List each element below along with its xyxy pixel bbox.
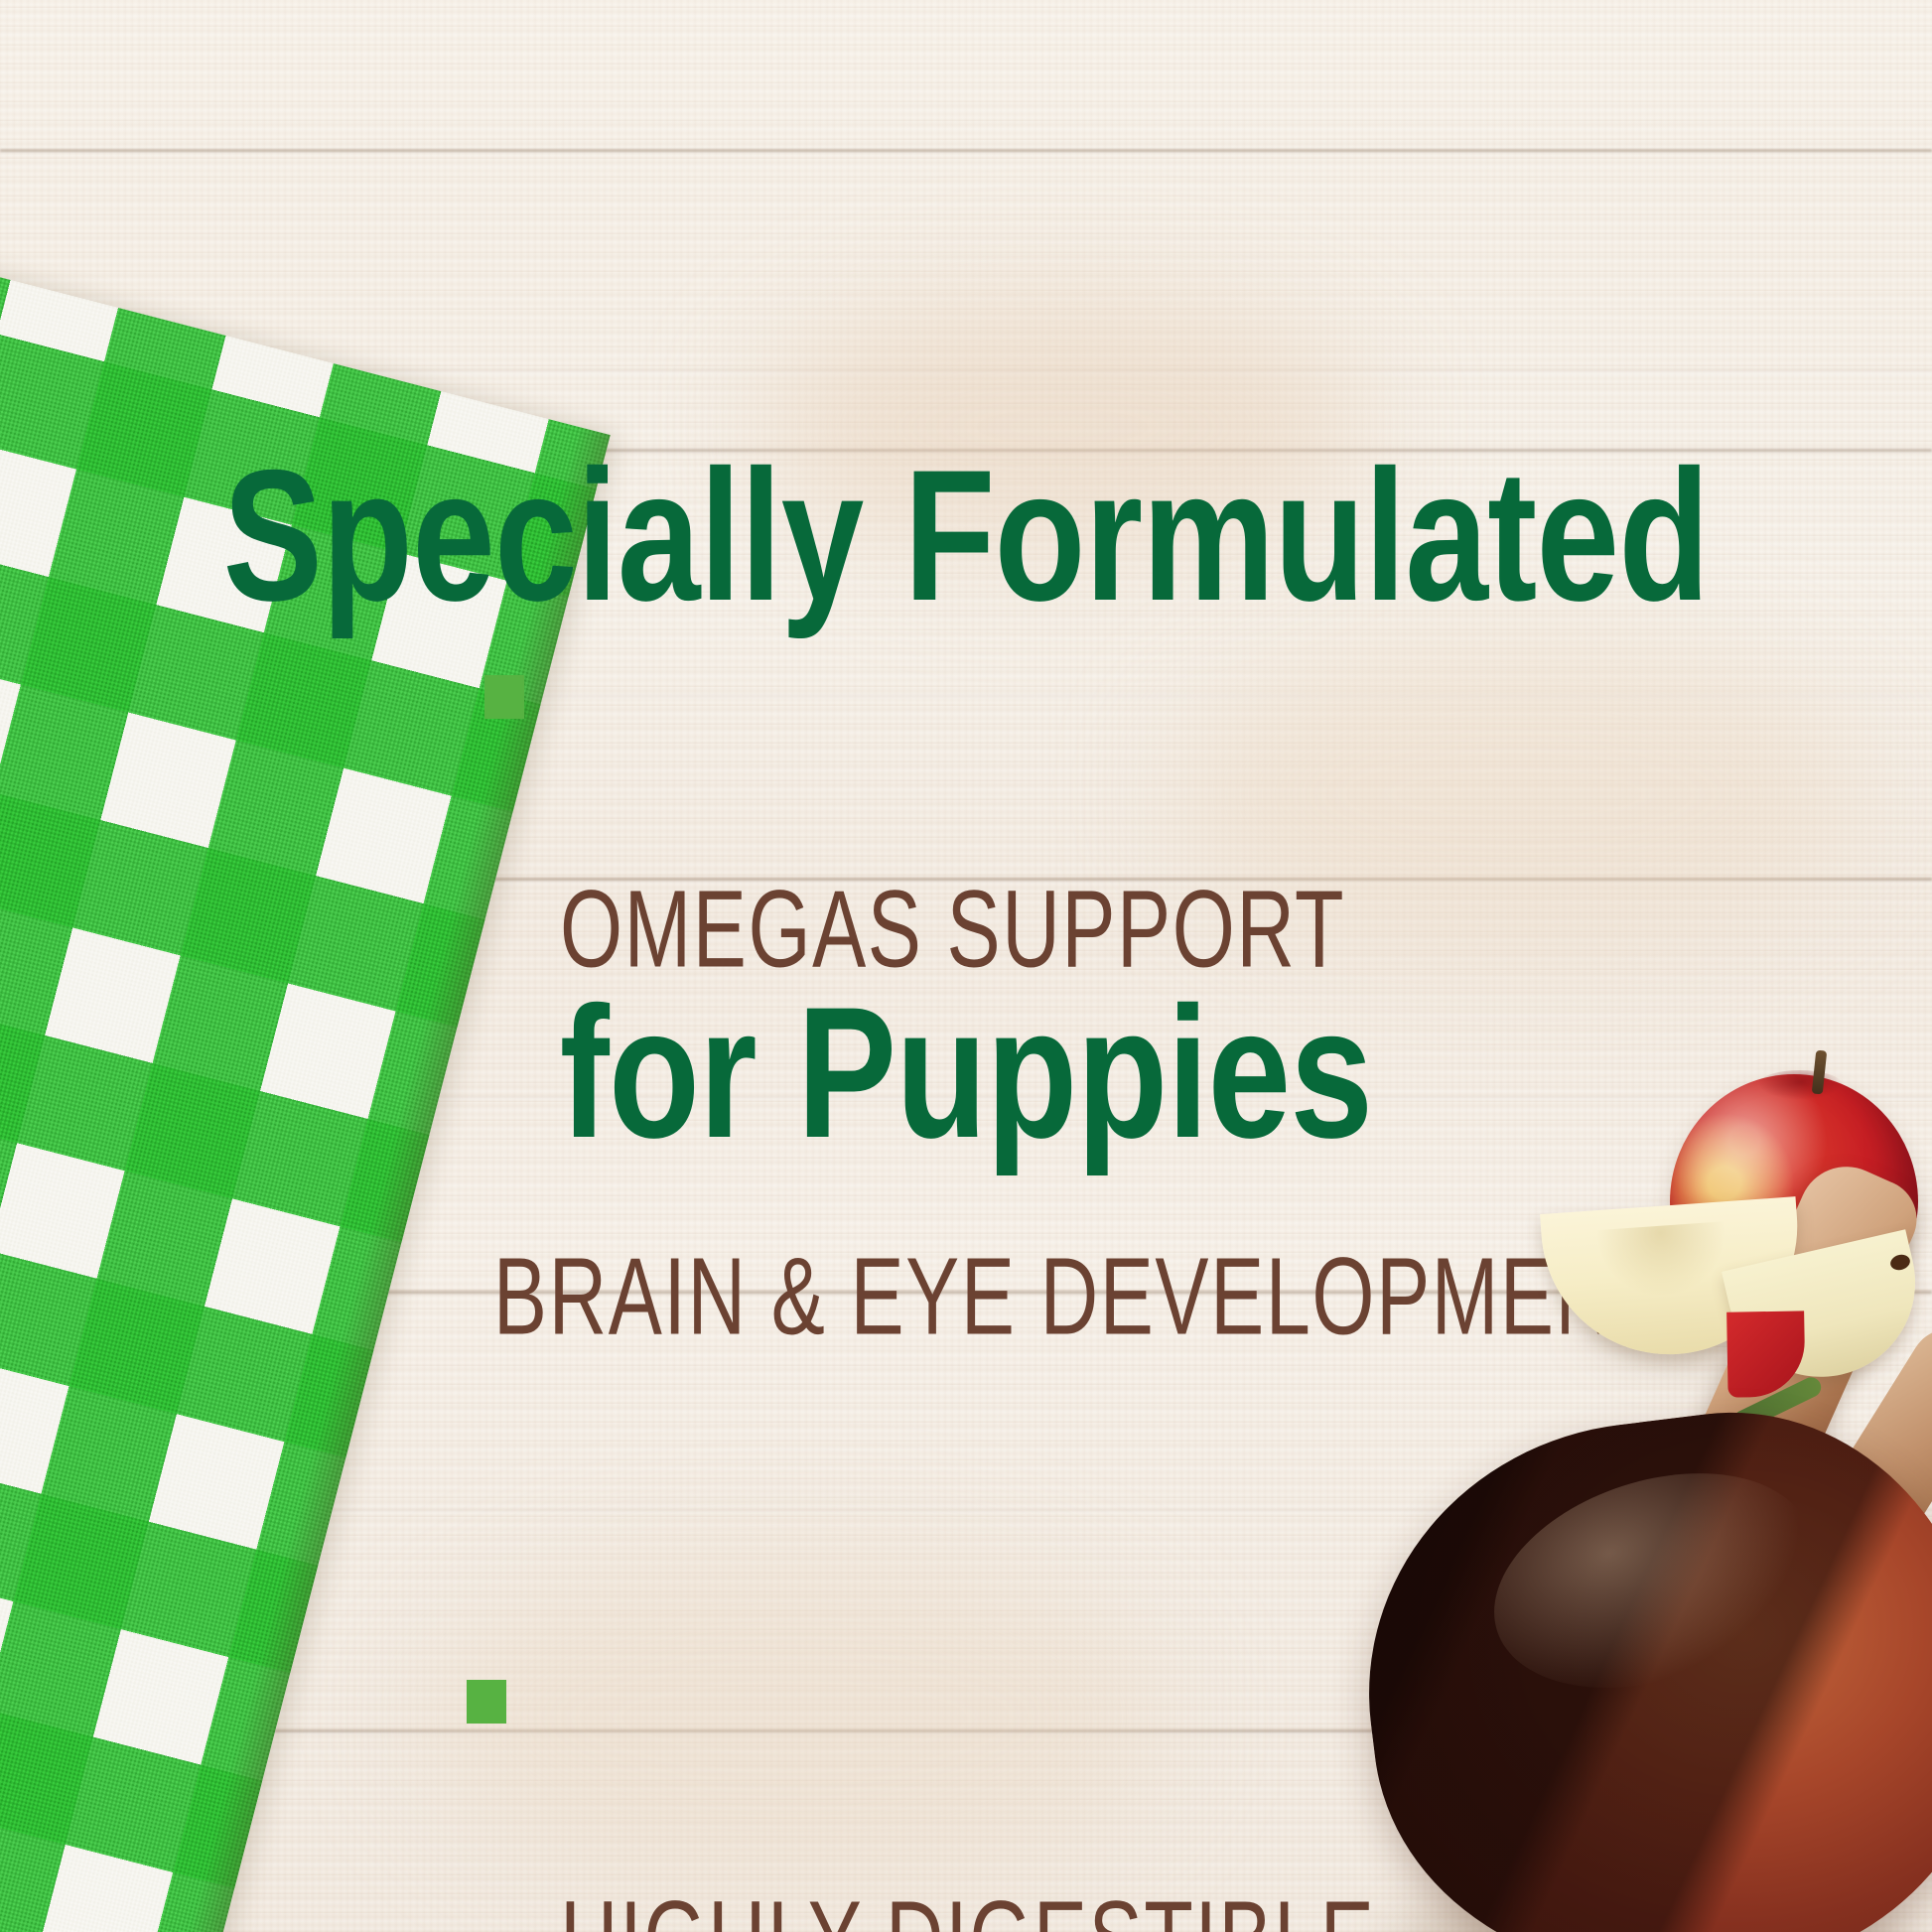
benefit-line: Highly Digestible	[560, 1879, 1262, 1932]
bullet-square-icon	[467, 1680, 506, 1724]
benefit-line: Brain & Eye Development	[493, 1236, 1262, 1358]
benefit-item-omegas: Omegas Support Brain & Eye Development	[467, 623, 1459, 1549]
benefit-text: Highly Digestible	[560, 1634, 1262, 1932]
product-benefit-banner: Specially Formulated for Puppies Omegas …	[0, 0, 1932, 1932]
apple-dimple	[1757, 1070, 1843, 1100]
benefits-list: Omegas Support Brain & Eye Development H…	[467, 623, 1459, 1932]
bullet-square-icon	[484, 675, 524, 719]
benefit-item-digestible: Highly Digestible	[467, 1634, 1459, 1932]
benefit-text: Omegas Support Brain & Eye Development	[560, 623, 1262, 1604]
benefit-line: Omegas Support	[560, 869, 1262, 991]
title-line-1: Specially Formulated	[194, 446, 1739, 624]
